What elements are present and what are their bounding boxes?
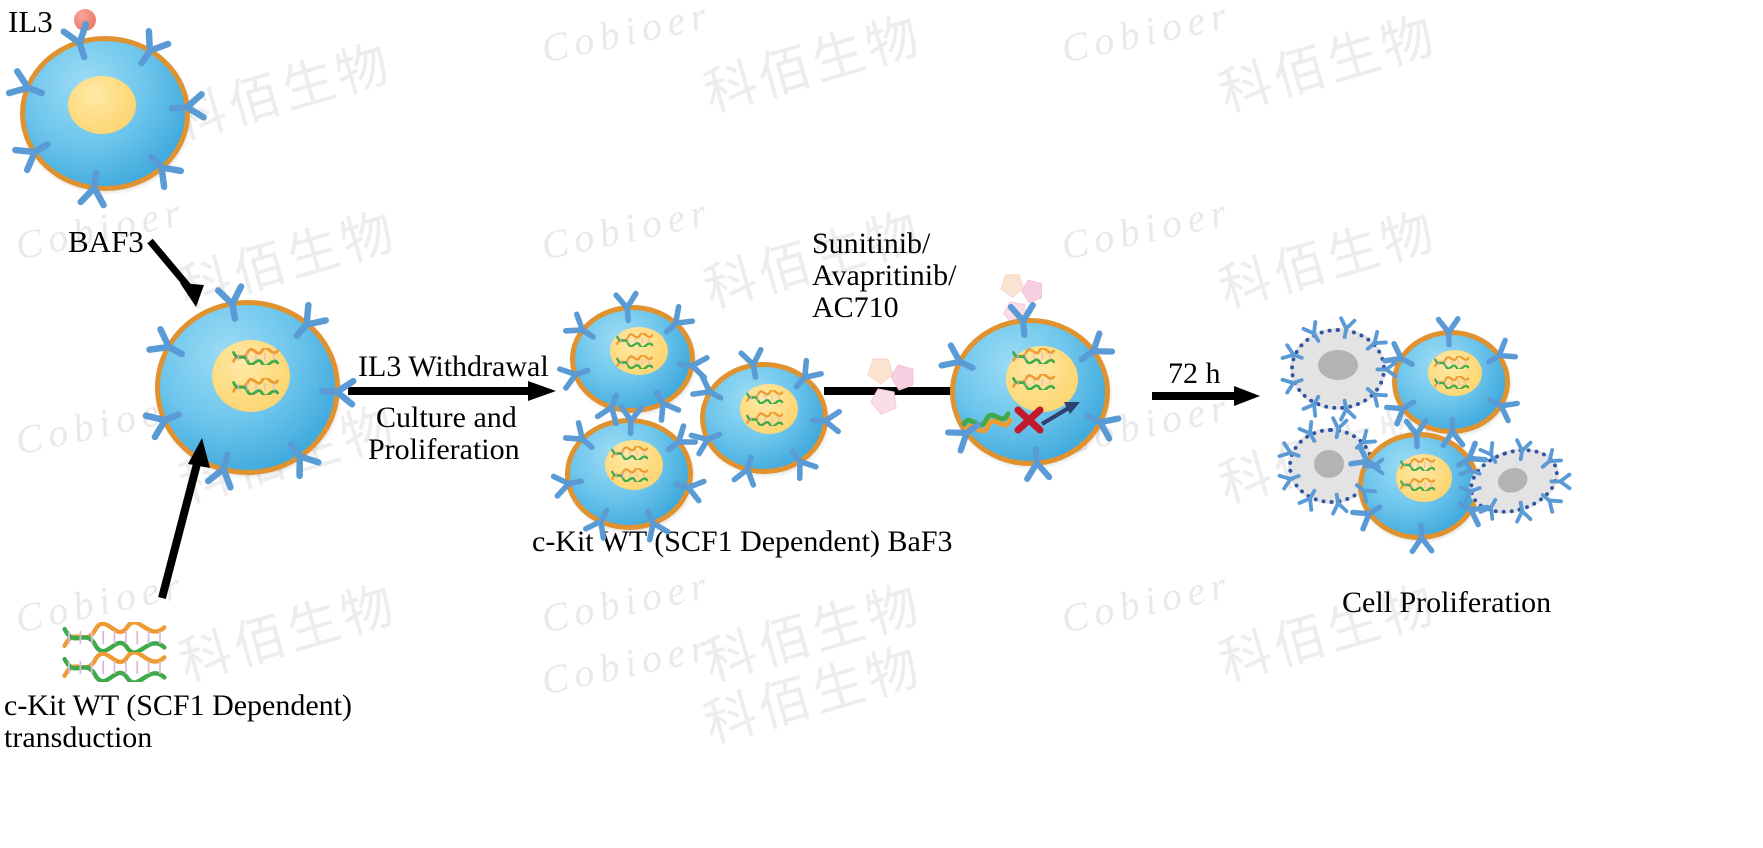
figure-canvas: Cobioer 科佰生物 Cobioer 科佰生物 科佰生物 Cobioer 科… [0,0,1763,848]
dna-helix-icon [746,390,784,404]
dna-helix-icon [746,412,784,426]
watermark-latin: Cobioer [537,623,716,705]
ckit-receptor-icon [1375,357,1400,382]
dna-helix-icon [616,355,654,369]
dna-construct-icon [62,652,167,682]
watermark-cjk: 科佰生物 [1209,562,1445,696]
dead-cell-nucleus [1314,450,1344,478]
dna-helix-icon [611,468,649,482]
culture-label-line2: Proliferation [368,430,520,471]
watermark-latin: Cobioer [537,188,716,270]
transduction-label-line2: transduction [4,718,152,757]
ckit-receptor-icon [732,343,774,385]
dna-helix-icon [232,378,280,395]
ckit-receptor-icon [1431,312,1467,348]
ckit-receptor-icon [70,166,117,213]
final-caption: Cell Proliferation [1342,584,1551,622]
dna-helix-icon [1434,376,1470,389]
ckit-receptor-icon [1001,297,1044,340]
ckit-receptor-icon [1015,443,1058,486]
inhibitor-label-line3: AC710 [812,288,899,328]
ckit-receptor-icon [1324,490,1353,519]
dna-helix-icon [232,348,280,365]
ckit-receptor-icon [1508,435,1537,464]
ckit-receptor-icon [166,84,212,130]
watermark-latin: Cobioer [1057,561,1236,643]
watermark-cjk: 科佰生物 [1209,189,1445,323]
dna-helix-icon [1012,348,1056,364]
dna-helix-icon [1400,458,1436,471]
ckit-receptor-icon [1332,313,1361,342]
cell-nucleus [68,76,136,134]
ckit-receptor-icon [1362,454,1387,479]
dna-helix-icon [616,333,654,347]
dead-cell-nucleus [1318,350,1358,380]
dna-helix-icon [611,446,649,460]
watermark-latin: Cobioer [1057,0,1236,72]
ckit-receptor-icon [608,286,647,325]
dna-helix-icon [1012,374,1056,390]
dna-helix-icon [1400,478,1436,491]
watermark-latin: Cobioer [1057,188,1236,270]
ckit-receptor-icon [207,278,256,327]
ckit-receptor-icon [546,463,588,505]
baf3-label: BAF3 [68,222,144,262]
ckit-receptor-icon [1403,521,1439,557]
watermark-cjk: 科佰生物 [1209,0,1445,126]
arrow-72h [1152,385,1262,407]
dna-helix-icon [1434,356,1470,369]
ckit-receptor-icon [808,402,846,440]
dna-construct-icon [62,622,167,652]
watermark-latin: Cobioer [537,561,716,643]
ckit-receptor-icon [317,370,361,414]
watermark-latin: Cobioer [537,0,716,72]
ckit-receptor-icon [1399,414,1435,450]
watermark-cjk: 科佰生物 [694,562,930,696]
watermark-cjk: 科佰生物 [694,624,930,758]
drug-molecule-icon [856,356,920,418]
watermark-cjk: 科佰生物 [694,0,930,126]
ckit-receptor-icon [1508,498,1537,527]
ckit-receptor-icon [613,400,650,437]
